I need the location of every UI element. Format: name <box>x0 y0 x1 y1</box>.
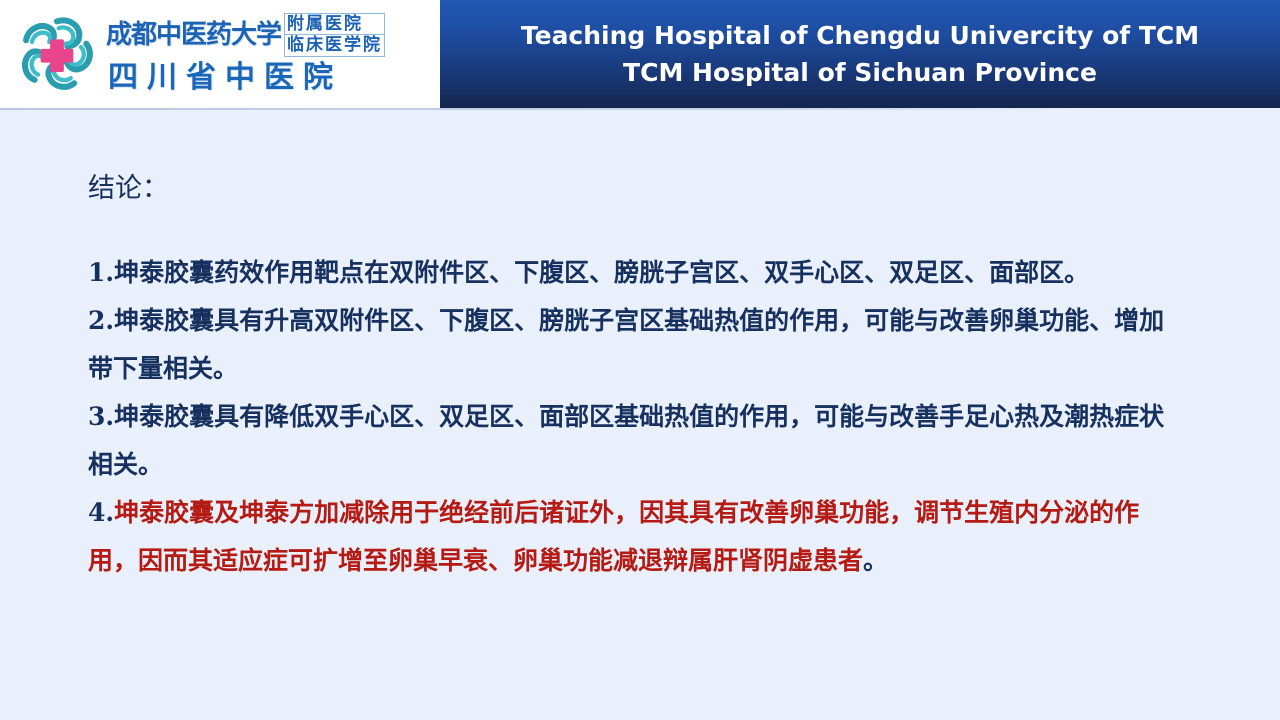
banner-title-line-1: Teaching Hospital of Chengdu Univercity … <box>521 17 1199 54</box>
conclusion-point: 3.坤泰胶囊具有降低双手心区、双足区、面部区基础热值的作用，可能与改善手足心热及… <box>88 393 1188 489</box>
conclusion-point: 1.坤泰胶囊药效作用靶点在双附件区、下腹区、膀胱子宫区、双手心区、双足区、面部区… <box>88 249 1188 297</box>
conclusion-points-list: 1.坤泰胶囊药效作用靶点在双附件区、下腹区、膀胱子宫区、双手心区、双足区、面部区… <box>88 249 1188 585</box>
conclusion-point-text: 坤泰胶囊具有升高双附件区、下腹区、膀胱子宫区基础热值的作用，可能与改善卵巢功能、… <box>88 306 1164 383</box>
slide-content: 结论： 1.坤泰胶囊药效作用靶点在双附件区、下腹区、膀胱子宫区、双手心区、双足区… <box>0 110 1280 720</box>
logo-affiliation-line-2: 临床医学院 <box>284 35 385 57</box>
conclusion-point-number: 4. <box>88 498 114 527</box>
hospital-logo: 成都中医药大学 附属医院 临床医学院 四川省中医院 <box>0 0 440 108</box>
conclusion-point-text: 坤泰胶囊具有降低双手心区、双足区、面部区基础热值的作用，可能与改善手足心热及潮热… <box>88 402 1164 479</box>
logo-affiliation-line-1: 附属医院 <box>284 13 385 35</box>
conclusion-point-number: 2. <box>88 306 114 335</box>
conclusion-point-text: 坤泰胶囊及坤泰方加减除用于绝经前后诸证外，因其具有改善卵巢功能，调节生殖内分泌的… <box>88 498 1139 575</box>
conclusion-point-number: 1. <box>88 258 114 287</box>
slide-header: 成都中医药大学 附属医院 临床医学院 四川省中医院 Teaching Hospi… <box>0 0 1280 108</box>
conclusion-point: 4.坤泰胶囊及坤泰方加减除用于绝经前后诸证外，因其具有改善卵巢功能，调节生殖内分… <box>88 489 1188 585</box>
logo-affiliation-box: 附属医院 临床医学院 <box>284 13 385 57</box>
header-banner: Teaching Hospital of Chengdu Univercity … <box>440 0 1280 108</box>
conclusion-point-tail: 。 <box>863 546 888 575</box>
conclusion-heading: 结论： <box>88 172 169 206</box>
banner-title-line-2: TCM Hospital of Sichuan Province <box>623 54 1097 91</box>
slide-canvas: 成都中医药大学 附属医院 临床医学院 四川省中医院 Teaching Hospi… <box>0 0 1280 720</box>
logo-text-block: 成都中医药大学 附属医院 临床医学院 四川省中医院 <box>106 7 385 101</box>
conclusion-point-number: 3. <box>88 402 114 431</box>
hospital-flower-cross-emblem <box>14 11 100 97</box>
logo-hospital-name: 四川省中医院 <box>106 58 385 98</box>
logo-university-name: 成都中医药大学 <box>106 20 281 50</box>
conclusion-point: 2.坤泰胶囊具有升高双附件区、下腹区、膀胱子宫区基础热值的作用，可能与改善卵巢功… <box>88 297 1188 393</box>
logo-row-university: 成都中医药大学 附属医院 临床医学院 <box>106 12 385 58</box>
conclusion-point-text: 坤泰胶囊药效作用靶点在双附件区、下腹区、膀胱子宫区、双手心区、双足区、面部区。 <box>114 258 1089 287</box>
